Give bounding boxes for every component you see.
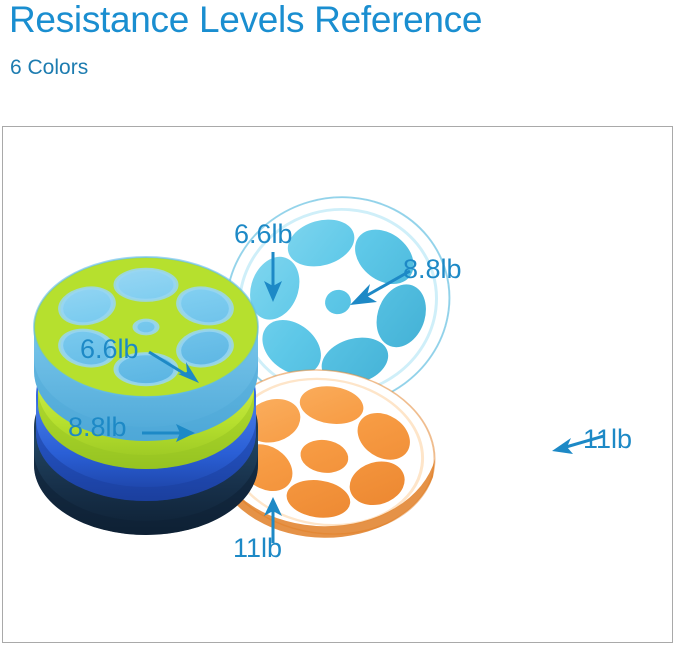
product-image-panel: 6.6lb 8.8lb 6.6lb 8.8lb — [2, 126, 673, 643]
page-subtitle: 6 Colors — [10, 55, 88, 81]
header: Resistance Levels Reference 6 Colors — [0, 0, 679, 120]
arrow-diagonal-left-icon — [346, 269, 412, 309]
photo-stage: 6.6lb 8.8lb 6.6lb 8.8lb — [3, 127, 672, 642]
product-photo — [3, 127, 672, 642]
arrow-up-icon — [251, 497, 295, 543]
arrow-diagonal-right-icon — [147, 349, 201, 389]
callout-label-left-upper: 6.6lb — [80, 334, 139, 364]
page-title: Resistance Levels Reference — [9, 0, 482, 42]
page-root: Resistance Levels Reference 6 Colors — [0, 0, 679, 646]
arrow-right-icon — [142, 421, 196, 445]
arrow-left-icon — [552, 432, 604, 458]
callout-label-left-lower: 8.8lb — [68, 412, 127, 442]
callout-label-top: 6.6lb — [234, 219, 293, 249]
arrow-down-icon — [251, 252, 295, 304]
